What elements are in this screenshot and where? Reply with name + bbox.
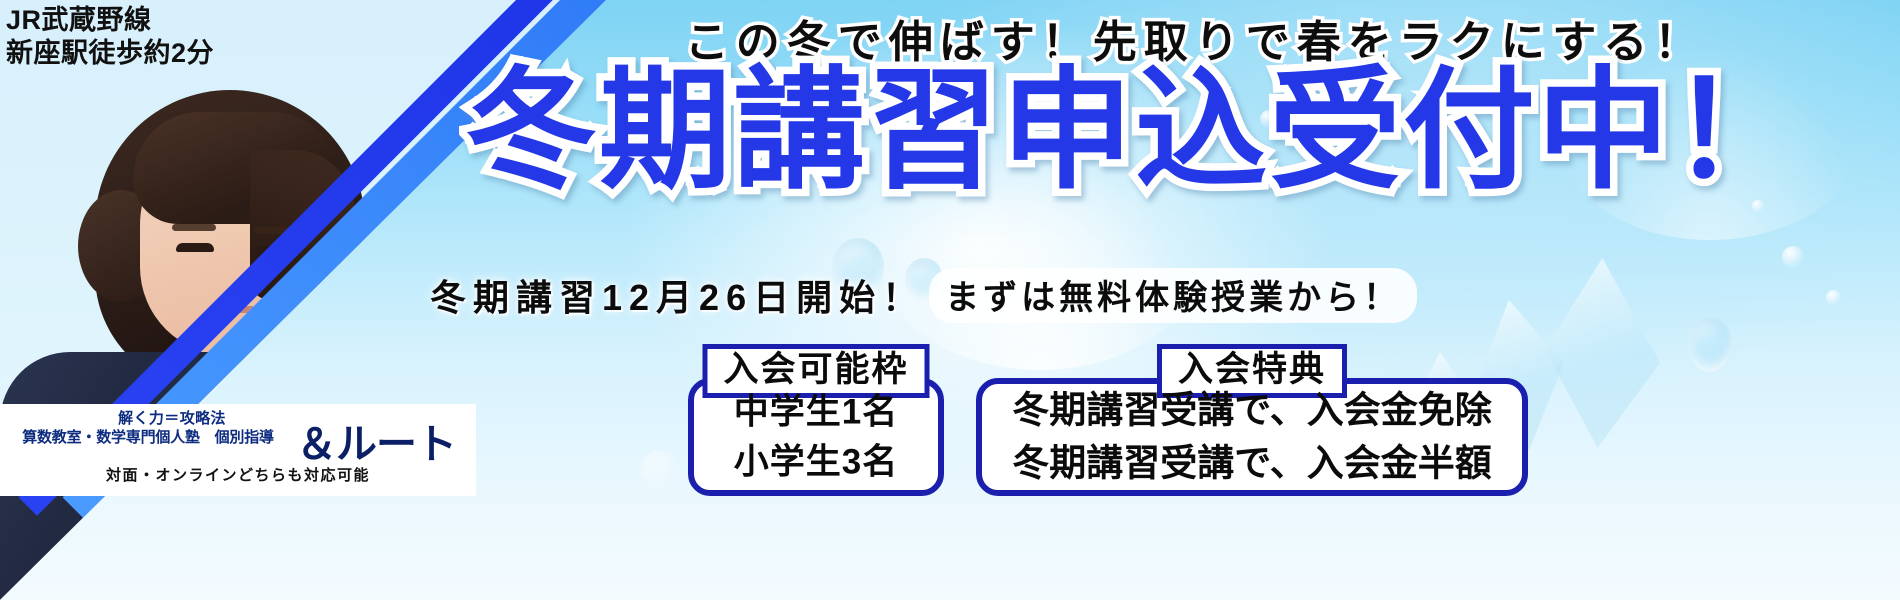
available-slots-box: 入会可能枠 中学生1名 小学生3名 [688, 378, 944, 496]
headline-group: この冬で伸ばす！先取りで春をラクにする！ 冬期講習申込受付中！ 冬期講習12月2… [0, 0, 1900, 600]
bonus-line-free: 冬期講習受講で、入会金免除 [982, 384, 1522, 437]
slot-line-elementary: 小学生3名 [694, 437, 938, 487]
available-slots-lines: 中学生1名 小学生3名 [694, 387, 938, 486]
school-logo-inner: 解く力＝攻略法 算数教室・数学専門個人塾 個別指導 ＆ルート 対面・オンラインど… [0, 404, 476, 496]
logo-footer-note: 対面・オンラインどちらも対応可能 [0, 464, 476, 485]
logo-tagline: 解く力＝攻略法 [52, 407, 292, 428]
logo-subtitle: 算数教室・数学専門個人塾 個別指導 [2, 426, 294, 447]
winter-course-banner: JR武蔵野線 新座駅徒歩約2分 この冬で伸ばす！先取りで春をラクにする！ 冬期講… [0, 0, 1900, 600]
free-trial-pill: まずは無料体験授業から！ [929, 268, 1417, 323]
slot-line-junior: 中学生1名 [694, 387, 938, 437]
free-trial-label: まずは無料体験授業から！ [945, 279, 1401, 317]
enrollment-bonus-lines: 冬期講習受講で、入会金免除 冬期講習受講で、入会金半額 [982, 384, 1522, 489]
school-logo-panel[interactable]: 解く力＝攻略法 算数教室・数学専門個人塾 個別指導 ＆ルート 対面・オンラインど… [0, 404, 476, 496]
bonus-line-half: 冬期講習受講で、入会金半額 [982, 437, 1522, 490]
station-access-info: JR武蔵野線 新座駅徒歩約2分 [6, 4, 214, 70]
subline-row: 冬期講習12月26日開始！ まずは無料体験授業から！ [430, 272, 1880, 318]
course-start-date: 冬期講習12月26日開始！ [430, 269, 925, 321]
logo-brand-name: ＆ルート [296, 410, 472, 470]
enrollment-bonus-box: 入会特典 冬期講習受講で、入会金免除 冬期講習受講で、入会金半額 [976, 378, 1528, 496]
station-line-name: JR武蔵野線 [6, 4, 214, 37]
station-walk-time: 新座駅徒歩約2分 [6, 37, 214, 70]
page-title: 冬期講習申込受付中！ [380, 62, 1890, 201]
